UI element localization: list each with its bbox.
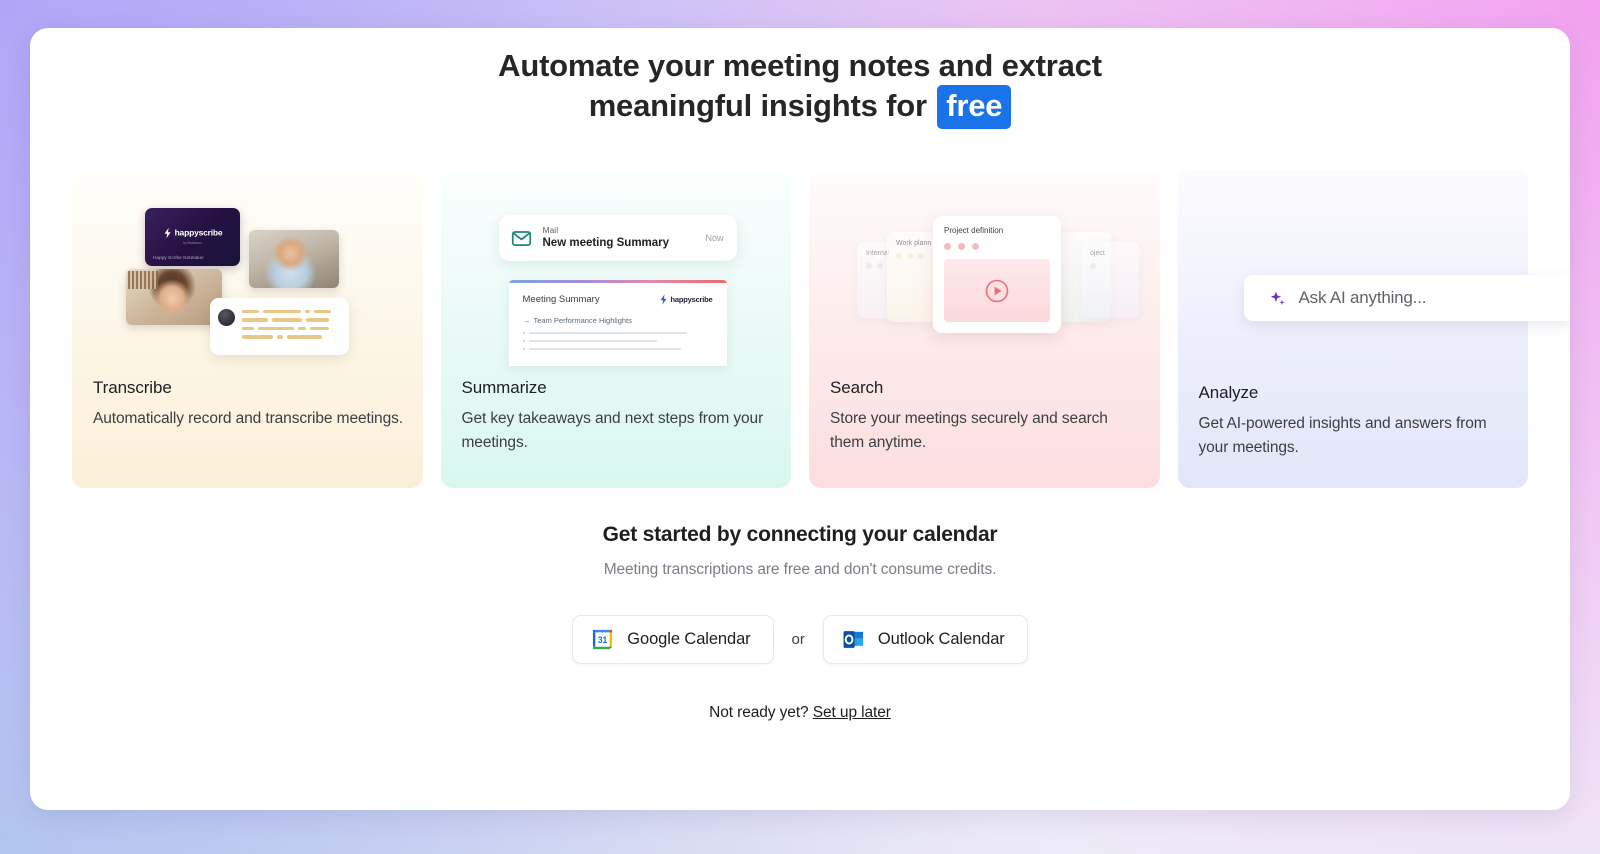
setup-later-link[interactable]: Set up later [813, 704, 891, 721]
headline-line-2: meaningful insights for free [30, 85, 1570, 128]
document-bullet [523, 340, 713, 342]
participant-photo-right [249, 230, 339, 288]
video-thumbnail [944, 259, 1050, 322]
onboarding-panel: Automate your meeting notes and extract … [30, 28, 1570, 810]
transcript-lines [242, 307, 339, 346]
document-body: Meeting Summary happyscribe → Team Perfo… [509, 283, 727, 350]
document-highlight-row: → Team Performance Highlights [523, 316, 713, 325]
stacked-meeting-card: oject [1081, 242, 1139, 318]
transcript-line [242, 327, 339, 330]
google-calendar-icon: 31 [591, 628, 614, 651]
card-title-search: Search [830, 378, 1144, 398]
feature-card-transcribe: happyscribe by Beatdown Happy Scribe Not… [72, 170, 423, 488]
card-title-analyze: Analyze [1199, 383, 1513, 403]
setup-later-row: Not ready yet? Set up later [30, 704, 1570, 722]
transcript-line [242, 335, 339, 338]
document-title: Meeting Summary [523, 294, 600, 305]
feature-card-search: Internal Work plann review [809, 170, 1160, 488]
document-header: Meeting Summary happyscribe [523, 294, 713, 305]
video-tile-happyscribe: happyscribe by Beatdown Happy Scribe Not… [145, 208, 240, 266]
mail-app-name: Mail [543, 225, 695, 236]
featured-card-title: Project definition [944, 226, 1050, 235]
stacked-card-dots [1090, 263, 1130, 269]
get-started-title: Get started by connecting your calendar [30, 523, 1570, 547]
photo-decor-stripe [128, 271, 158, 289]
card-description-summarize: Get key takeaways and next steps from yo… [462, 407, 776, 455]
featured-meeting-card: Project definition [933, 216, 1061, 333]
sparkle-icon [1268, 289, 1287, 308]
participant-photo-left [126, 269, 222, 325]
document-bullet [523, 348, 713, 350]
happyscribe-logo: happyscribe [659, 294, 712, 305]
google-calendar-button[interactable]: 31 Google Calendar [572, 615, 773, 664]
document-highlight-text: Team Performance Highlights [534, 316, 632, 325]
meeting-summary-document: Meeting Summary happyscribe → Team Perfo… [509, 280, 727, 366]
transcript-line [242, 310, 339, 313]
outlook-calendar-button[interactable]: Outlook Calendar [823, 615, 1028, 664]
search-artwork: Internal Work plann review [809, 170, 1160, 375]
setup-later-prefix: Not ready yet? [709, 704, 813, 721]
headline-line-2-prefix: meaningful insights for [589, 88, 936, 123]
mail-notification-card: Mail New meeting Summary Now [499, 215, 737, 261]
outlook-calendar-icon [842, 628, 865, 651]
analyze-artwork: Ask AI anything... [1178, 170, 1529, 375]
ask-ai-input[interactable]: Ask AI anything... [1244, 275, 1571, 321]
happyscribe-logo-sub: by Beatdown [183, 241, 201, 245]
lightning-bolt-icon [163, 227, 172, 238]
free-badge: free [937, 85, 1011, 128]
page-title: Automate your meeting notes and extract … [30, 46, 1570, 129]
card-description-search: Store your meetings securely and search … [830, 407, 1144, 455]
mail-notification-text: Mail New meeting Summary [543, 225, 695, 252]
summarize-card-text: Summarize Get key takeaways and next ste… [462, 378, 776, 455]
feature-card-list: happyscribe by Beatdown Happy Scribe Not… [72, 170, 1528, 488]
analyze-card-text: Analyze Get AI-powered insights and answ… [1199, 383, 1513, 460]
arrow-right-icon: → [523, 317, 531, 325]
headline-line-1: Automate your meeting notes and extract [30, 46, 1570, 85]
envelope-icon [511, 228, 532, 249]
document-bullet [523, 332, 713, 334]
ask-ai-placeholder: Ask AI anything... [1299, 288, 1427, 308]
mail-timestamp: Now [705, 233, 723, 243]
transcript-preview-card [210, 298, 349, 355]
card-title-transcribe: Transcribe [93, 378, 407, 398]
transcribe-card-text: Transcribe Automatically record and tran… [93, 378, 407, 431]
card-description-analyze: Get AI-powered insights and answers from… [1199, 412, 1513, 460]
or-separator: or [792, 631, 805, 648]
happyscribe-logo-text: happyscribe [671, 295, 713, 304]
calendar-button-group: 31 Google Calendar or Outlook Calendar [30, 615, 1570, 664]
featured-card-dots [944, 243, 1050, 250]
summarize-artwork: Mail New meeting Summary Now Meeting Sum… [441, 170, 792, 375]
video-tile-caption: Happy Scribe Notetaker [153, 255, 204, 260]
search-card-text: Search Store your meetings securely and … [830, 378, 1144, 455]
feature-card-summarize: Mail New meeting Summary Now Meeting Sum… [441, 170, 792, 488]
google-calendar-day: 31 [598, 635, 608, 645]
transcript-line [242, 318, 339, 321]
transcribe-artwork: happyscribe by Beatdown Happy Scribe Not… [72, 170, 423, 375]
play-icon [985, 279, 1009, 303]
lightning-bolt-icon [659, 294, 668, 305]
card-title-summarize: Summarize [462, 378, 776, 398]
card-description-transcribe: Automatically record and transcribe meet… [93, 407, 407, 431]
get-started-subtitle: Meeting transcriptions are free and don'… [30, 561, 1570, 579]
get-started-section: Get started by connecting your calendar … [30, 523, 1570, 722]
stacked-card-title: oject [1090, 250, 1130, 257]
avatar [218, 309, 235, 326]
outlook-calendar-label: Outlook Calendar [878, 630, 1005, 649]
happyscribe-logo-text: happyscribe [175, 228, 223, 238]
happyscribe-logo: happyscribe [163, 227, 223, 238]
meeting-card-stack: Internal Work plann review [809, 170, 1160, 375]
feature-card-analyze: Ask AI anything... Analyze Get AI-powere… [1178, 170, 1529, 488]
google-calendar-label: Google Calendar [627, 630, 750, 649]
document-bullet-lines [523, 332, 713, 350]
mail-subject: New meeting Summary [543, 236, 695, 252]
